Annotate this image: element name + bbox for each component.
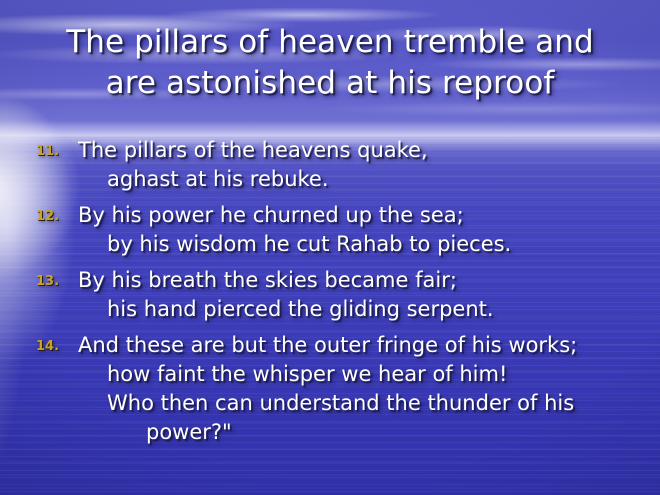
verse-item: 12.By his power he churned up the sea;by… xyxy=(0,201,660,259)
verse-number: 12. xyxy=(36,209,70,224)
verse-item: 14.And these are but the outer fringe of… xyxy=(0,331,660,447)
verse-number: 13. xyxy=(36,274,70,289)
presentation-slide: The pillars of heaven tremble and are as… xyxy=(0,0,660,495)
slide-title: The pillars of heaven tremble and are as… xyxy=(0,22,660,104)
verse-line: And these are but the outer fringe of hi… xyxy=(78,331,652,360)
slide-content: The pillars of heaven tremble and are as… xyxy=(0,0,660,495)
verse-line: Who then can understand the thunder of h… xyxy=(78,389,652,418)
verse-text: By his power he churned up the sea;by hi… xyxy=(0,201,660,259)
verse-item: 11.The pillars of the heavens quake,agha… xyxy=(0,136,660,194)
verse-line: power?" xyxy=(78,418,652,447)
verse-text: By his breath the skies became fair;his … xyxy=(0,266,660,324)
verse-item: 13.By his breath the skies became fair;h… xyxy=(0,266,660,324)
verse-number: 11. xyxy=(36,144,70,159)
verse-text: The pillars of the heavens quake,aghast … xyxy=(0,136,660,194)
verse-list: 11.The pillars of the heavens quake,agha… xyxy=(0,136,660,454)
verse-text: And these are but the outer fringe of hi… xyxy=(0,331,660,447)
verse-number: 14. xyxy=(36,339,70,354)
verse-line: his hand pierced the gliding serpent. xyxy=(78,295,652,324)
verse-line: how faint the whisper we hear of him! xyxy=(78,360,652,389)
verse-line: By his breath the skies became fair; xyxy=(78,266,652,295)
verse-line: The pillars of the heavens quake, xyxy=(78,136,652,165)
verse-line: By his power he churned up the sea; xyxy=(78,201,652,230)
verse-line: aghast at his rebuke. xyxy=(78,165,652,194)
verse-line: by his wisdom he cut Rahab to pieces. xyxy=(78,230,652,259)
